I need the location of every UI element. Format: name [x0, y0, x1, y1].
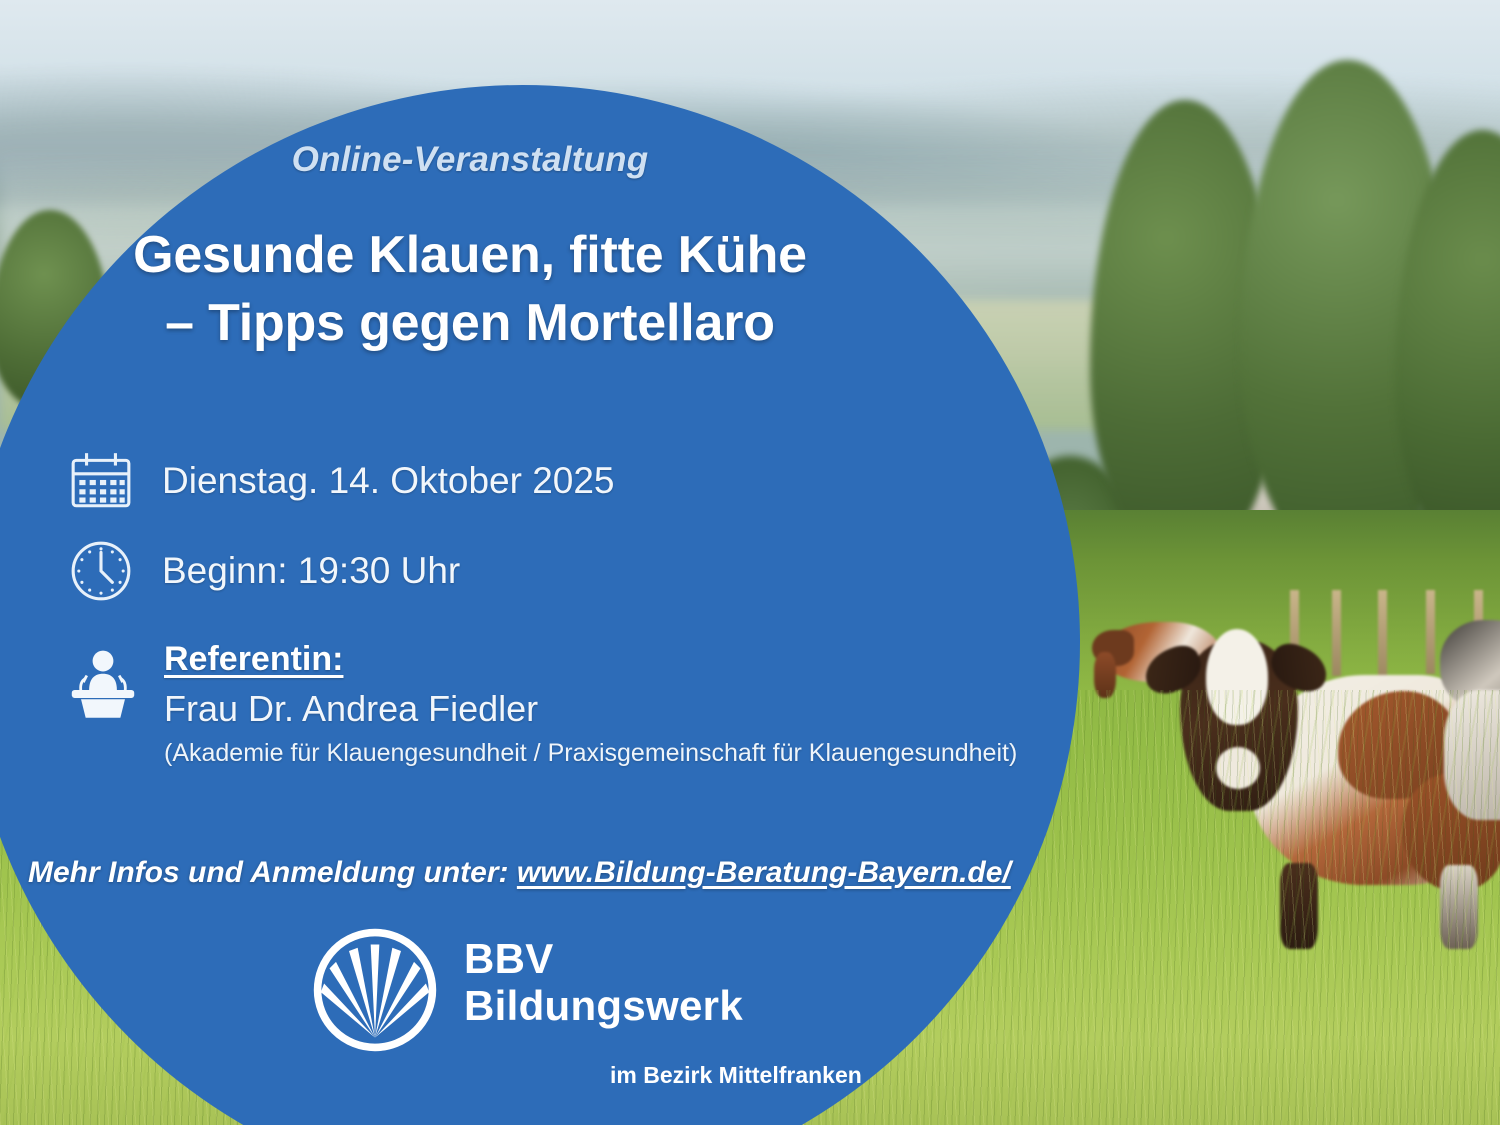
registration-prefix: Mehr Infos und Anmeldung unter: [28, 856, 517, 889]
bbv-logo-line-1: BBV [464, 935, 743, 982]
bbv-logo-subtitle: im Bezirk Mittelfranken [610, 1062, 862, 1089]
event-date-text: Dienstag. 14. Oktober 2025 [162, 460, 615, 502]
poster-content: Online-Veranstaltung Gesunde Klauen, fit… [0, 0, 1500, 1125]
bbv-logo-text: BBV Bildungswerk [464, 935, 743, 1029]
speaker-label: Referentin: [164, 640, 1017, 679]
speaker-row: Referentin: Frau Dr. Andrea Fiedler (Aka… [66, 640, 1017, 768]
clock-icon [68, 538, 134, 604]
registration-link[interactable]: www.Bildung-Beratung-Bayern.de/ [517, 856, 1011, 889]
lectern-speaker-icon [66, 646, 140, 720]
bbv-fan-circle-icon [310, 925, 440, 1055]
event-kicker: Online-Veranstaltung [0, 140, 940, 180]
speaker-details: Referentin: Frau Dr. Andrea Fiedler (Aka… [164, 640, 1017, 768]
event-time-row: Beginn: 19:30 Uhr [68, 538, 460, 604]
speaker-name: Frau Dr. Andrea Fiedler [164, 688, 1017, 730]
speaker-organisation: (Akademie für Klauengesundheit / Praxisg… [164, 739, 1017, 768]
calendar-icon [68, 448, 134, 514]
title-line-2: – Tipps gegen Mortellaro [0, 290, 940, 358]
event-time-text: Beginn: 19:30 Uhr [162, 550, 460, 592]
title-line-1: Gesunde Klauen, fitte Kühe [133, 226, 807, 284]
registration-line: Mehr Infos und Anmeldung unter: www.Bild… [28, 856, 1011, 890]
page-title: Gesunde Klauen, fitte Kühe – Tipps gegen… [0, 222, 940, 357]
bbv-logo: BBV Bildungswerk [310, 925, 743, 1055]
event-poster: Online-Veranstaltung Gesunde Klauen, fit… [0, 0, 1500, 1125]
event-date-row: Dienstag. 14. Oktober 2025 [68, 448, 615, 514]
bbv-logo-line-2: Bildungswerk [464, 982, 743, 1029]
